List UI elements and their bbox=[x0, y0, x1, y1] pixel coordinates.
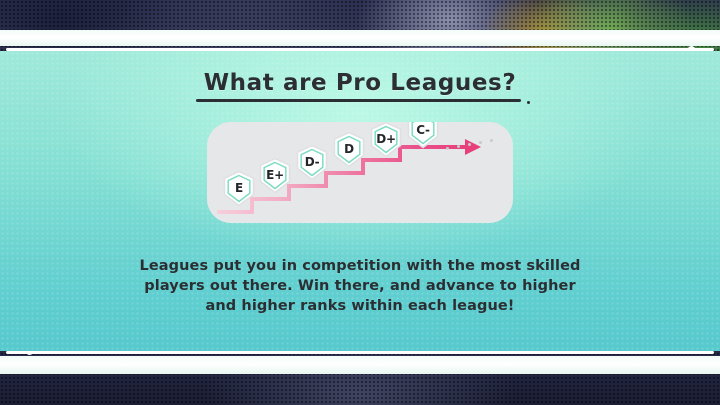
rank-badge-label: C- bbox=[406, 122, 440, 149]
rank-badge-e-plus: E+ bbox=[258, 157, 292, 194]
rank-badge-e: E bbox=[222, 170, 256, 207]
rank-badge-label: E bbox=[222, 170, 256, 207]
rank-badge-d-plus: D+ bbox=[369, 122, 403, 158]
rank-badge-list: E E+ D- bbox=[207, 122, 513, 223]
title-underline-dot bbox=[527, 101, 530, 104]
rank-badge-label: D+ bbox=[369, 122, 403, 158]
rank-badge-c-minus: C- bbox=[406, 122, 440, 149]
rank-badge-d-minus: D- bbox=[295, 144, 329, 181]
frame-hairline-bottom bbox=[6, 351, 714, 354]
rank-progression-card: E E+ D- bbox=[207, 122, 513, 223]
screen-root: What are Pro Leagues? bbox=[0, 0, 720, 405]
body-line: and higher ranks within each league! bbox=[0, 296, 720, 316]
rank-badge-d: D bbox=[332, 131, 366, 168]
frame-band-bottom bbox=[0, 356, 720, 374]
page-title: What are Pro Leagues? bbox=[0, 70, 720, 96]
body-line: players out there. Win there, and advanc… bbox=[0, 276, 720, 296]
body-text: Leagues put you in competition with the … bbox=[0, 256, 720, 316]
body-line: Leagues put you in competition with the … bbox=[0, 256, 720, 276]
rank-badge-label: D bbox=[332, 131, 366, 168]
rank-badge-label: D- bbox=[295, 144, 329, 181]
content-panel: What are Pro Leagues? bbox=[0, 51, 720, 351]
frame-band-top bbox=[0, 30, 720, 46]
title-underline bbox=[196, 99, 521, 102]
rank-badge-label: E+ bbox=[258, 157, 292, 194]
